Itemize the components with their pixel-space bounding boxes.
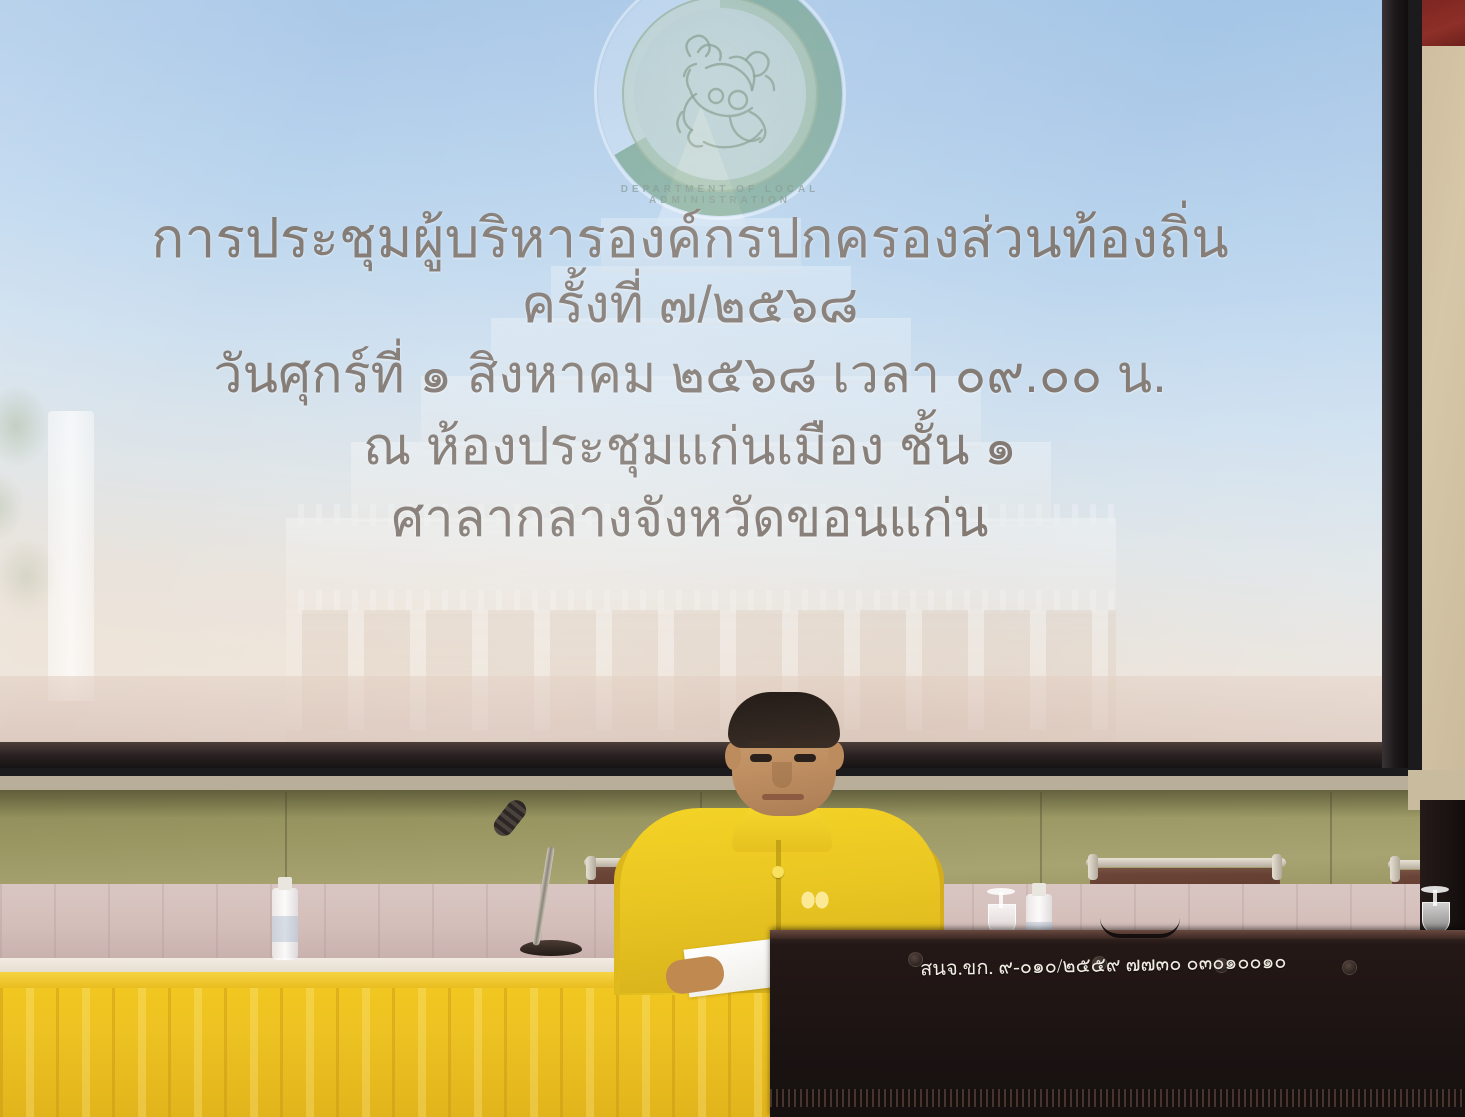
monitor-screw (1342, 960, 1357, 975)
projection-screen-frame: กรมส่งเสริมการปกครองท้องถิ่น DEPARTMENT … (0, 0, 1422, 776)
microphone-base (520, 940, 582, 956)
singha-lion-icon (646, 16, 796, 166)
chair-post (586, 856, 596, 880)
slide-line-venue-building: ศาลากลางจังหวัดขอนแก่น (0, 490, 1394, 548)
bottle-cap (1032, 883, 1046, 896)
right-eyebrow (792, 742, 818, 747)
mouth (762, 794, 804, 800)
chair-post (1088, 854, 1098, 880)
red-curtain (1416, 0, 1465, 46)
department-of-local-administration-seal-icon: กรมส่งเสริมการปกครองท้องถิ่น DEPARTMENT … (594, 0, 846, 220)
right-eye (794, 754, 816, 762)
wall-seam (1330, 792, 1332, 888)
bottle-cap (278, 877, 292, 890)
seal-english-ring-text: DEPARTMENT OF LOCAL ADMINISTRATION (594, 184, 846, 206)
left-eyebrow (748, 742, 774, 747)
conference-room-photo: กรมส่งเสริมการปกครองท้องถิ่น DEPARTMENT … (0, 0, 1465, 1117)
asset-tag-label: สนจ.ขก. ๙-๐๑๐/๒๕๕๙ ๗๗๓๐ ๐๓๐๑๐๐๑๐ (920, 944, 1341, 985)
wall-seam (1040, 792, 1042, 888)
chest-emblem-icon (798, 886, 832, 912)
monitor-cable (1100, 918, 1180, 938)
projection-screen-surface: กรมส่งเสริมการปกครองท้องถิ่น DEPARTMENT … (0, 0, 1394, 746)
chair-post (1272, 854, 1282, 880)
hair (728, 692, 840, 748)
slide-line-datetime: วันศุกร์ที่ ๑ สิงหาคม ๒๕๖๘ เวลา ๐๙.๐๐ น. (0, 346, 1394, 404)
slide-line-session: ครั้งที่ ๗/๒๕๖๘ (0, 276, 1394, 334)
slide-line-venue-room: ณ ห้องประชุมแก่นเมือง ชั้น ๑ (0, 418, 1394, 476)
temple-finials (286, 590, 1116, 612)
slide-line-title: การประชุมผู้บริหารองค์กรปกครองส่วนท้องถิ… (0, 208, 1394, 270)
slide-text-block: การประชุมผู้บริหารองค์กรปกครองส่วนท้องถิ… (0, 208, 1394, 549)
left-eye (750, 754, 772, 762)
water-bottle (272, 888, 298, 960)
chair-rail (1086, 858, 1286, 867)
bottle-label (272, 916, 298, 942)
screen-right-bar (1382, 0, 1408, 768)
nose (772, 762, 792, 788)
wall-seam (285, 792, 287, 888)
chair-post (1390, 856, 1400, 882)
shirt-button (772, 866, 784, 878)
monitor-vent-grille (770, 1089, 1465, 1107)
monitor-rear-panel: สนจ.ขก. ๙-๐๑๐/๒๕๕๙ ๗๗๓๐ ๐๓๐๑๐๐๑๐ (770, 930, 1465, 1117)
